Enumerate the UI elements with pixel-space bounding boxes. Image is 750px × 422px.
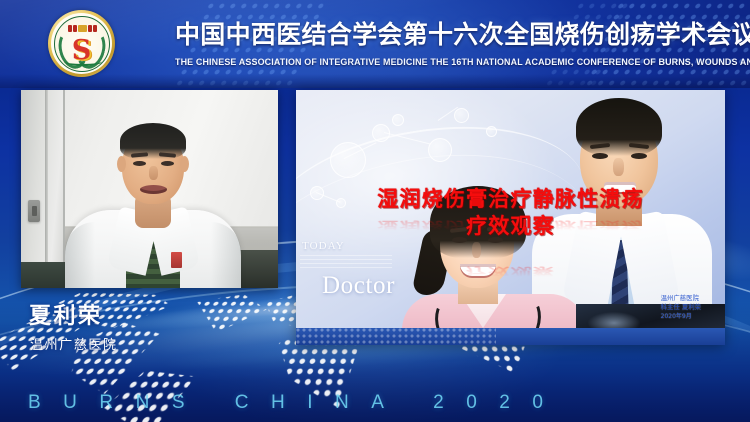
emblem-disc: S xyxy=(54,16,110,72)
webcam-subject-ear xyxy=(180,156,189,172)
female-doctor-nose xyxy=(472,242,481,258)
emblem-band-mark xyxy=(93,25,97,32)
slide-title-reflection-line1: 湿润烧伤膏治疗静脉性溃疡 xyxy=(296,218,725,233)
female-doctor-eye xyxy=(452,237,467,243)
webcam-subject-ear xyxy=(117,156,126,172)
conference-header-banner: S 中国中西医结合学会第十六次全国烧伤创疡学术会议 THE CHINESE AS… xyxy=(0,0,750,88)
slide-bubble-decor xyxy=(392,114,404,126)
presentation-slide-panel[interactable]: TODAY Doctor xyxy=(296,90,725,345)
webcam-subject-nose xyxy=(149,166,158,180)
emblem-band-mark xyxy=(88,25,92,32)
webcam-subject-eye xyxy=(133,161,146,166)
speaker-name: 夏利荣 xyxy=(29,303,103,331)
webcam-door-lock-icon xyxy=(28,200,40,222)
webcam-door-jamb xyxy=(45,90,48,288)
slide-credit-role-name: 科主任 夏利荣 xyxy=(661,303,701,312)
male-doctor-nose xyxy=(613,158,624,176)
speaker-organization: 温州广慈医院 xyxy=(30,337,118,355)
broadcast-stage: S 中国中西医结合学会第十六次全国烧伤创疡学术会议 THE CHINESE AS… xyxy=(0,0,750,422)
emblem-bottom-arc xyxy=(64,57,102,66)
slide-credit-hospital: 温州广慈医院 xyxy=(661,294,701,303)
webcam-subject-eye xyxy=(161,161,174,166)
event-wordmark: BURNS CHINA 2020 xyxy=(28,390,728,416)
emblem-band-mark-gold xyxy=(78,25,87,32)
webcam-subject-hair xyxy=(120,123,186,159)
conference-title-english: THE CHINESE ASSOCIATION OF INTEGRATIVE M… xyxy=(175,56,723,68)
webcam-subject-mouth xyxy=(140,185,167,194)
female-doctor-eye xyxy=(488,237,503,243)
conference-emblem-logo: S xyxy=(48,10,115,77)
male-doctor-hair xyxy=(576,98,662,156)
slide-author-credit: 温州广慈医院 科主任 夏利荣 2020年9月 xyxy=(661,294,701,321)
conference-title-chinese: 中国中西医结合学会第十六次全国烧伤创疡学术会议 xyxy=(175,18,740,52)
male-doctor-eye xyxy=(631,153,647,159)
speaker-video-panel[interactable] xyxy=(21,90,278,288)
emblem-band-mark xyxy=(73,25,77,32)
male-doctor-eye xyxy=(592,153,608,159)
webcam-pocket-badge xyxy=(171,252,182,268)
male-doctor-mouth xyxy=(604,182,636,192)
slide-credit-date: 2020年9月 xyxy=(661,312,701,321)
slide-title-reflection-line2: 疗效观察 xyxy=(296,264,725,279)
header-base-fade xyxy=(0,74,750,88)
webcam-door xyxy=(21,90,65,288)
slide-bottom-strip-dots xyxy=(296,328,496,345)
slide-bubble-decor xyxy=(454,108,469,123)
emblem-top-band xyxy=(64,24,102,33)
slide-watermark-today: TODAY xyxy=(302,240,345,252)
emblem-band-mark xyxy=(68,25,72,32)
